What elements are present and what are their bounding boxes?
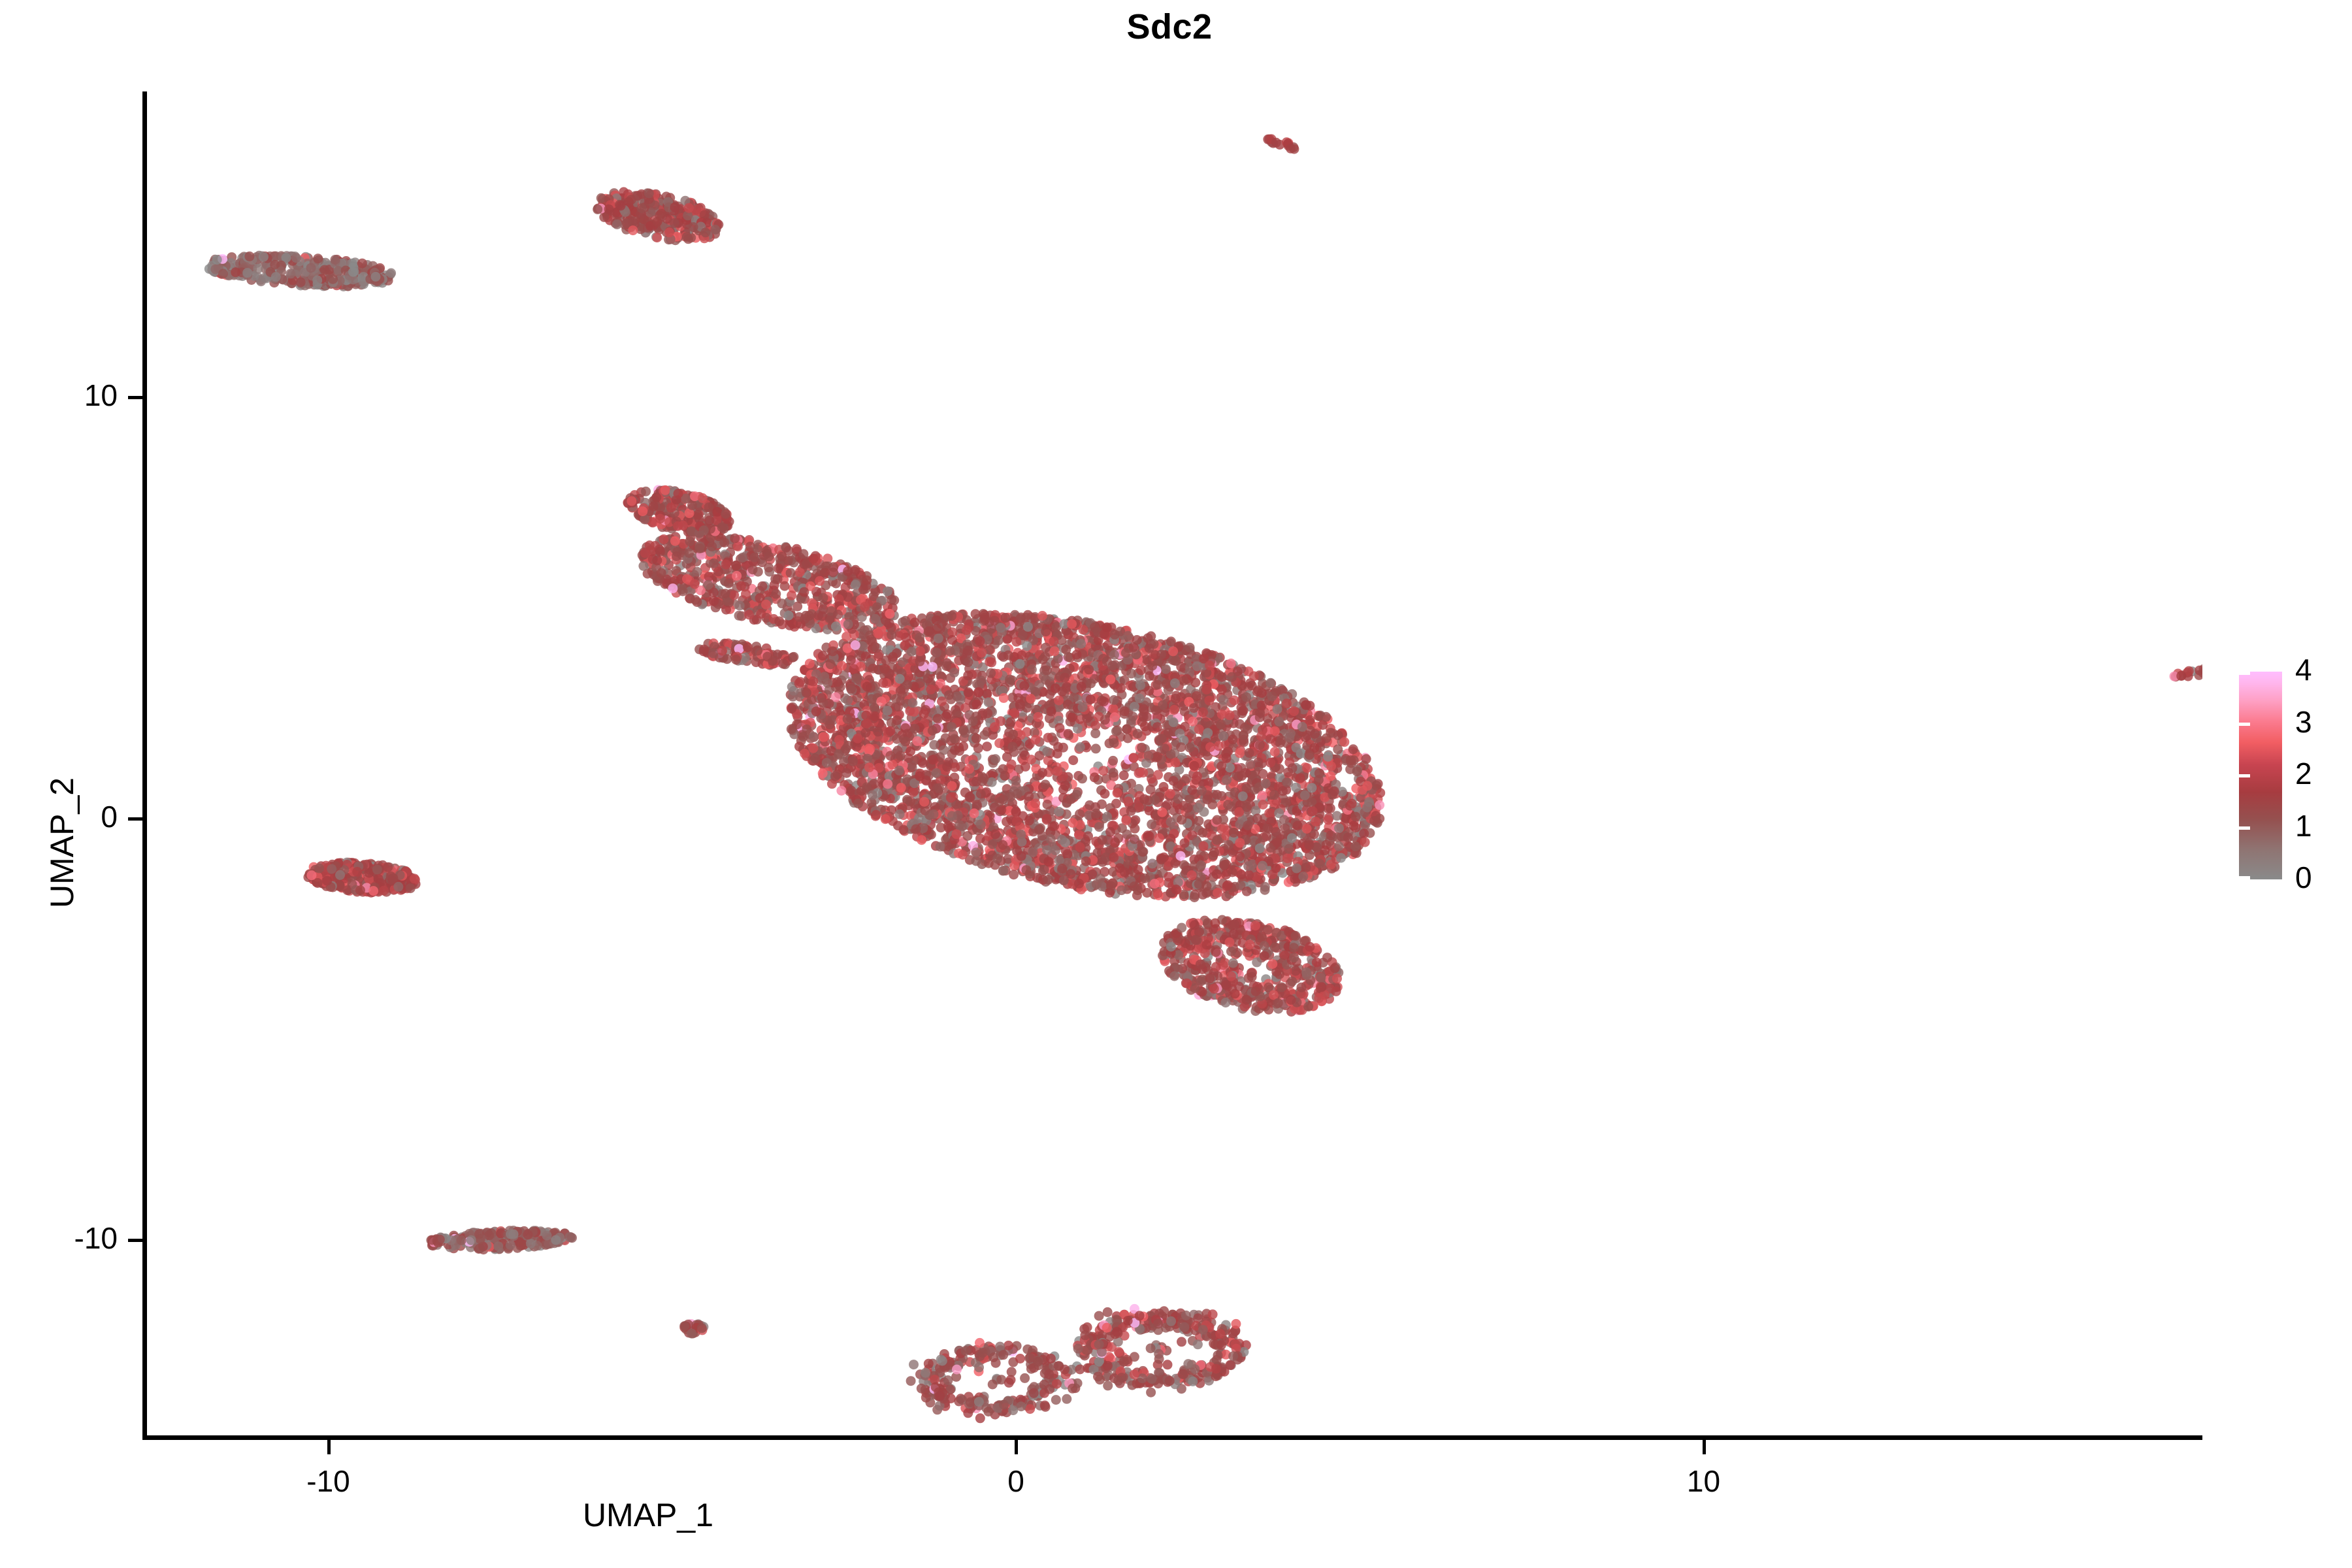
x-axis-tick-mark (1015, 1440, 1018, 1454)
umap-feature-plot: Sdc2 -10010100-10 UMAP_1 UMAP_2 43210 (0, 0, 2352, 1568)
colorbar-tick-mark (2239, 876, 2250, 879)
colorbar-tick-label: 1 (2295, 808, 2312, 843)
colorbar-tick-mark (2239, 826, 2250, 830)
scatter-plot-area (142, 91, 2202, 1437)
colorbar-tick-mark (2228, 672, 2239, 675)
x-axis-tick-mark (1703, 1440, 1706, 1454)
x-axis-tick-label: 10 (1639, 1463, 1769, 1499)
y-axis-tick-label: -10 (0, 1220, 118, 1256)
x-axis-tick-mark (327, 1440, 331, 1454)
y-axis-tick-mark (128, 396, 142, 399)
colorbar-tick-label: 2 (2295, 756, 2312, 791)
y-axis-tick-mark (128, 817, 142, 821)
colorbar-tick-mark (2239, 774, 2250, 777)
colorbar-tick-mark (2228, 774, 2239, 777)
colorbar-tick-label: 3 (2295, 704, 2312, 740)
colorbar-tick-mark (2228, 876, 2239, 879)
x-axis-title: UMAP_1 (0, 1496, 1824, 1534)
y-axis-title: UMAP_2 (43, 777, 81, 908)
x-axis-tick-label: 0 (951, 1463, 1081, 1499)
colorbar-tick-label: 0 (2295, 860, 2312, 895)
colorbar-tick-mark (2239, 723, 2250, 726)
colorbar-tick-label: 4 (2295, 652, 2312, 687)
colorbar-tick-mark (2239, 672, 2250, 675)
y-axis-tick-mark (128, 1239, 142, 1242)
y-axis-tick-label: 10 (0, 378, 118, 413)
x-axis-tick-label: -10 (263, 1463, 394, 1499)
page-title: Sdc2 (0, 7, 2345, 47)
colorbar-tick-mark (2228, 826, 2239, 830)
colorbar-tick-mark (2228, 723, 2239, 726)
